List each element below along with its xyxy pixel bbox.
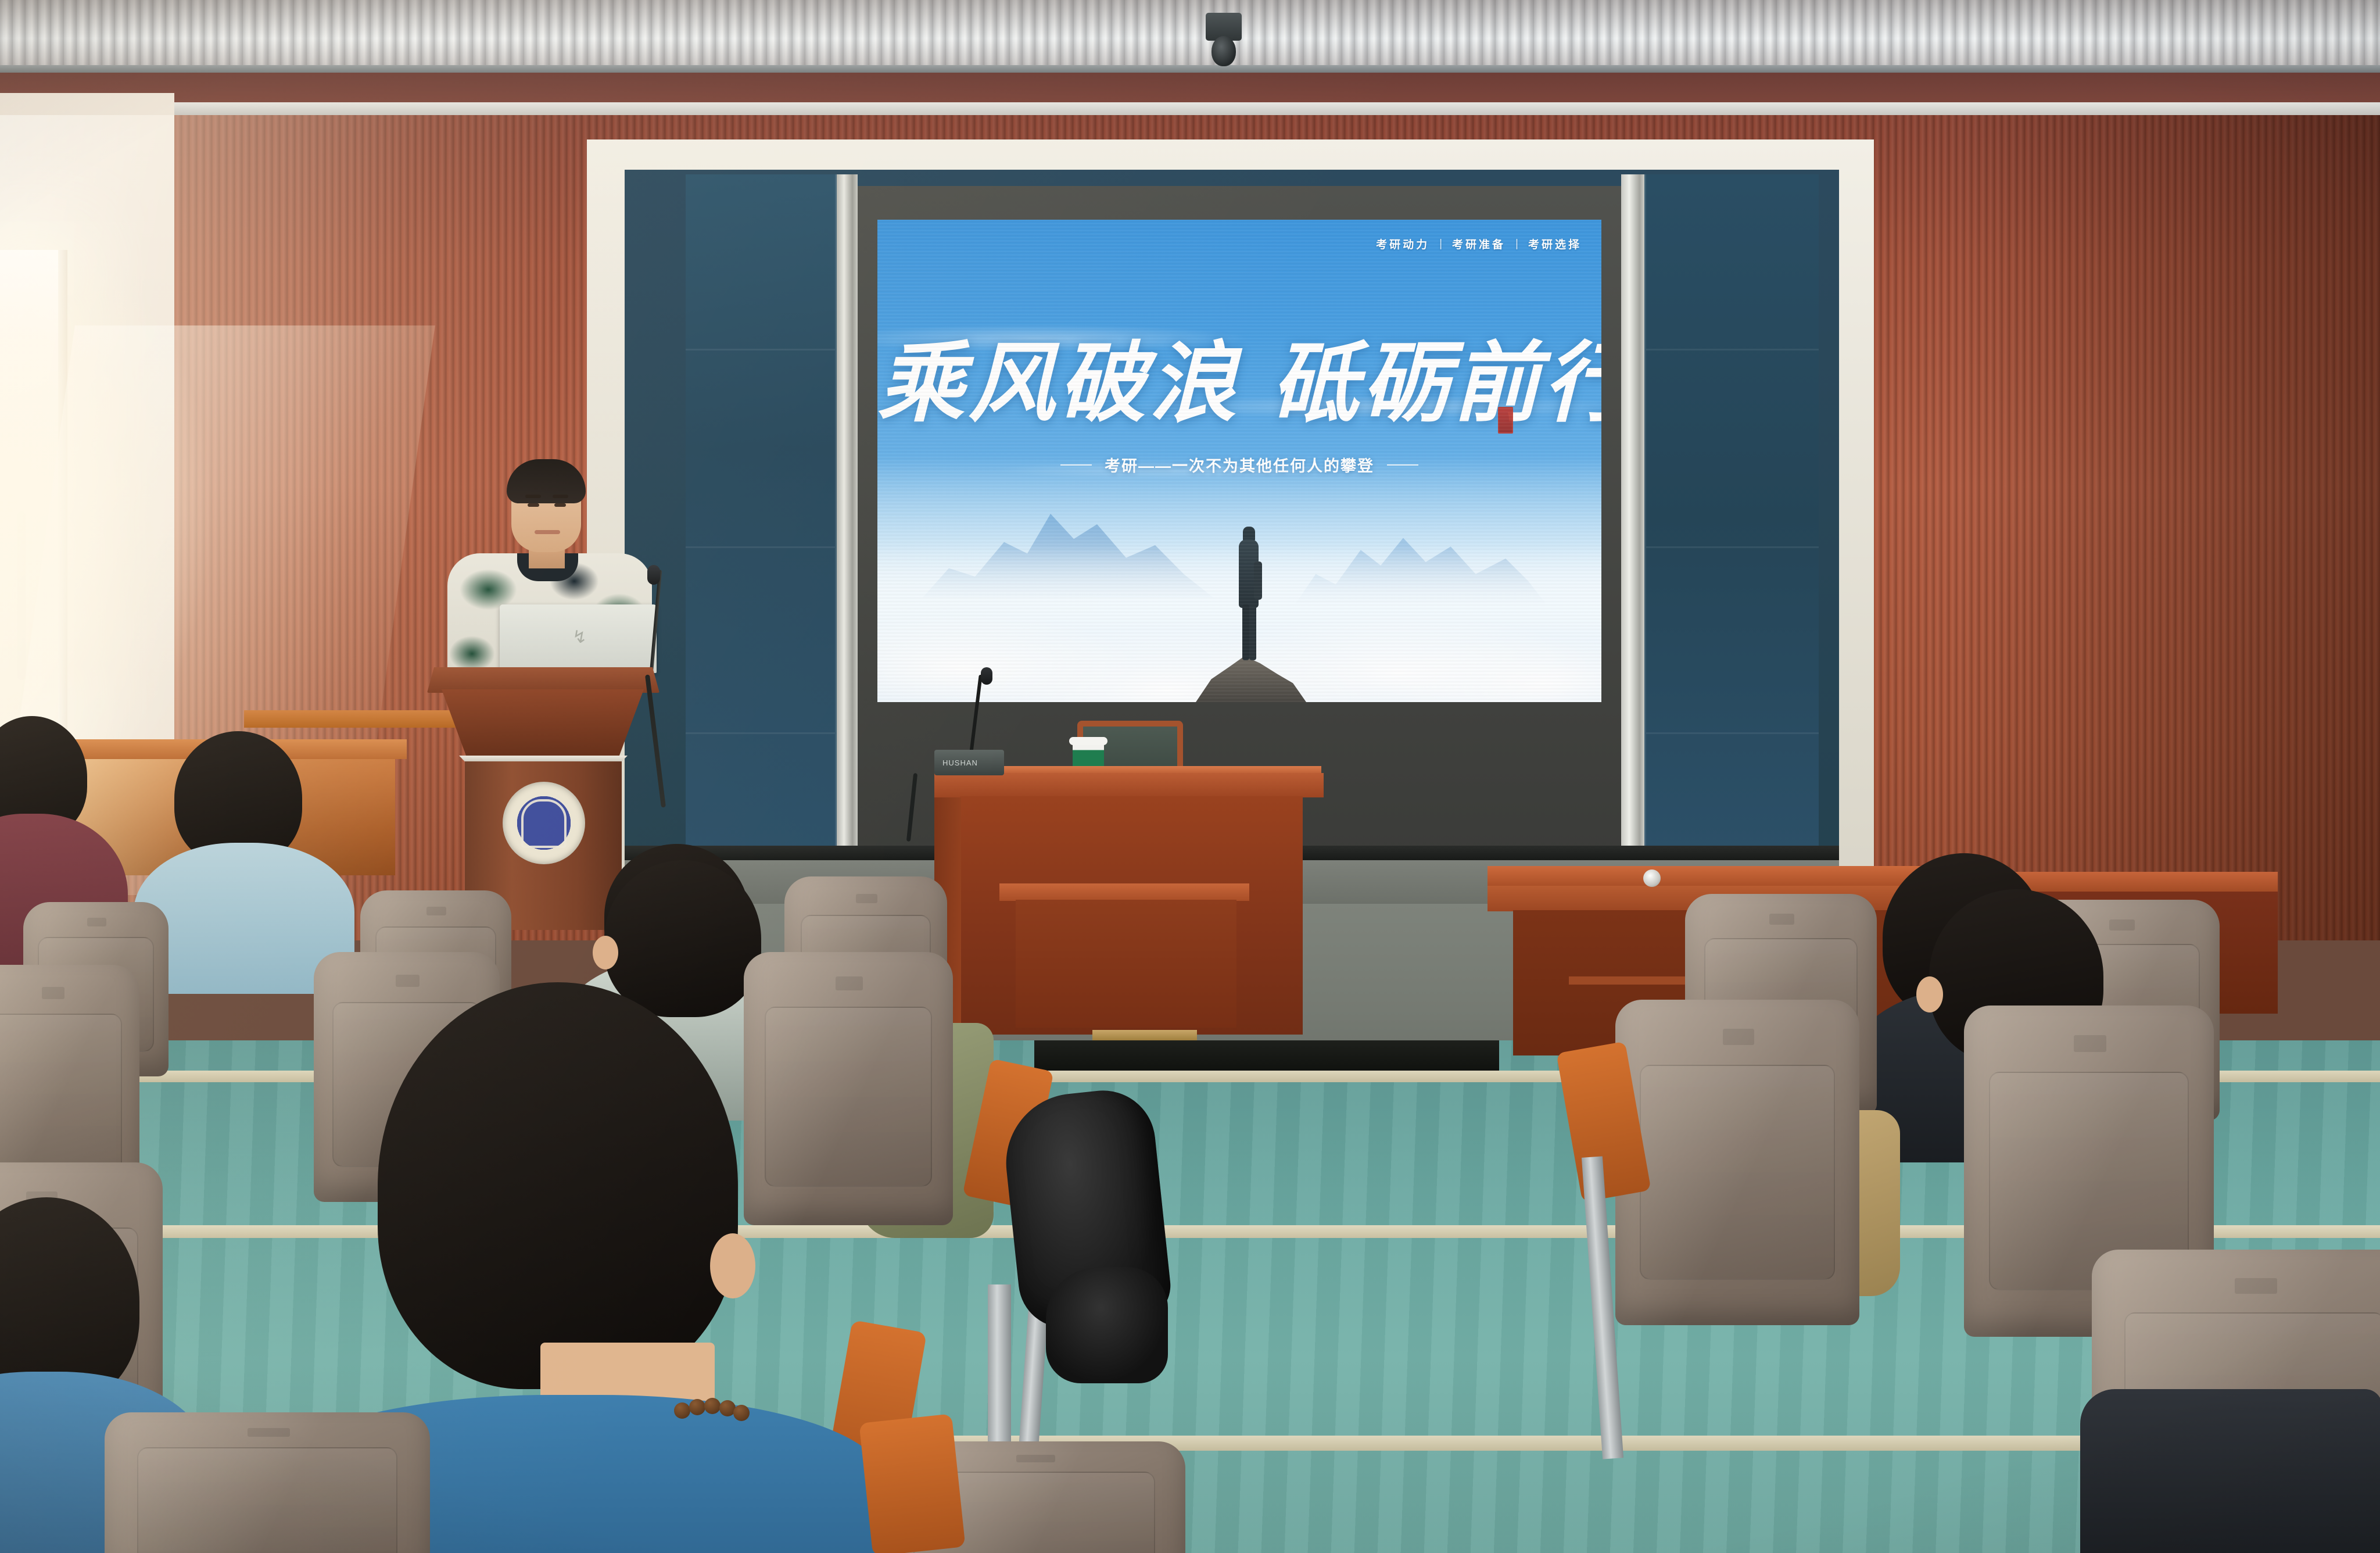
calligraphy-seal-icon <box>1498 407 1513 434</box>
seat-shell <box>744 952 953 1225</box>
panel-seam <box>686 349 835 350</box>
seat-armrest <box>859 1414 965 1553</box>
panel-seam <box>686 546 835 548</box>
upper-wall-band <box>0 73 2380 106</box>
audience-head <box>604 860 761 1017</box>
slide-header-item-3: 考研选择 <box>1528 236 1582 252</box>
mic-receiver-label: HUSHAN <box>942 758 978 767</box>
blue-wall-panel-right <box>1644 174 1819 860</box>
desk-top-edge <box>934 773 1324 797</box>
metal-trim-left <box>837 174 858 860</box>
audience-ear <box>593 936 618 969</box>
panel-seam <box>1646 732 1819 734</box>
foreground-audience-ear <box>710 1233 755 1298</box>
slide-header-item-1: 考研动力 <box>1376 236 1429 252</box>
student-desk-left-top <box>999 883 1249 901</box>
climber-leg-left <box>1242 604 1249 660</box>
auditorium-seat[interactable] <box>105 1412 430 1553</box>
student-desk-left-body <box>1016 900 1236 1028</box>
panel-seam <box>1646 546 1819 548</box>
climber-backpack <box>1254 561 1262 600</box>
desk-mic-head-icon[interactable] <box>981 667 992 685</box>
lectern-top <box>427 667 659 693</box>
slide-header-separator: | <box>1515 238 1518 251</box>
presentation-screen[interactable]: 考研动力 | 考研准备 | 考研选择 乘风破浪砥砺前行 考研——一次不为其他任何… <box>877 220 1601 702</box>
auditorium-seat[interactable] <box>744 952 953 1225</box>
camera-lens-icon <box>1211 36 1236 66</box>
blue-wall-panel-left <box>686 174 837 860</box>
university-emblem-icon <box>503 782 585 864</box>
metal-trim-right <box>1621 174 1644 860</box>
lecture-hall-photo: 考研动力 | 考研准备 | 考研选择 乘风破浪砥砺前行 考研——一次不为其他任何… <box>0 0 2380 1553</box>
slide-title-part1: 乘风破浪 <box>877 336 1240 432</box>
panel-seam <box>1646 349 1819 350</box>
panel-seam <box>686 732 835 734</box>
foreground-audience-head <box>378 982 738 1389</box>
slide-header-item-2: 考研准备 <box>1452 236 1506 252</box>
slide-title-part2: 砥砺前行 <box>1271 336 1601 432</box>
seat-shell <box>1615 1000 1859 1325</box>
speaker-mouth <box>535 530 560 534</box>
speaker-eye-right <box>554 503 566 507</box>
desk-cable-grommet <box>1643 869 1661 887</box>
speaker-eyebrow-right <box>553 495 568 498</box>
emblem-inner-glyph <box>521 799 567 848</box>
paper-cup-lid <box>1069 737 1107 745</box>
seat-highlight <box>105 1412 430 1553</box>
seat-highlight <box>1615 1000 1859 1325</box>
laptop-logo-icon: ↯ <box>572 630 586 645</box>
jacket-on-floor-lower <box>1046 1267 1168 1383</box>
seat-shell <box>105 1412 430 1553</box>
slide-header-nav: 考研动力 | 考研准备 | 考研选择 <box>1376 236 1582 252</box>
audience-ear <box>1916 976 1943 1012</box>
slide-title: 乘风破浪砥砺前行 <box>877 313 1601 439</box>
stage-front-ledge <box>1034 1040 1499 1073</box>
audience-dark-jacket <box>2080 1389 2380 1553</box>
student-desk-right-top <box>1487 866 1929 886</box>
ceiling-shading <box>0 0 2380 70</box>
auditorium-seat[interactable] <box>1615 1000 1859 1325</box>
climber-leg-right <box>1249 604 1256 660</box>
desk-foot-blocks <box>1092 1030 1197 1040</box>
slide-header-separator: | <box>1439 238 1442 251</box>
lectern-mic-head-icon[interactable] <box>647 565 660 585</box>
seat-highlight <box>744 952 953 1225</box>
speaker-eye-left <box>528 503 539 507</box>
lectern-body <box>442 689 644 766</box>
speaker-eyebrow-left <box>525 495 541 498</box>
beaded-bracelet <box>674 1398 750 1423</box>
climber-silhouette-icon <box>1236 527 1261 659</box>
